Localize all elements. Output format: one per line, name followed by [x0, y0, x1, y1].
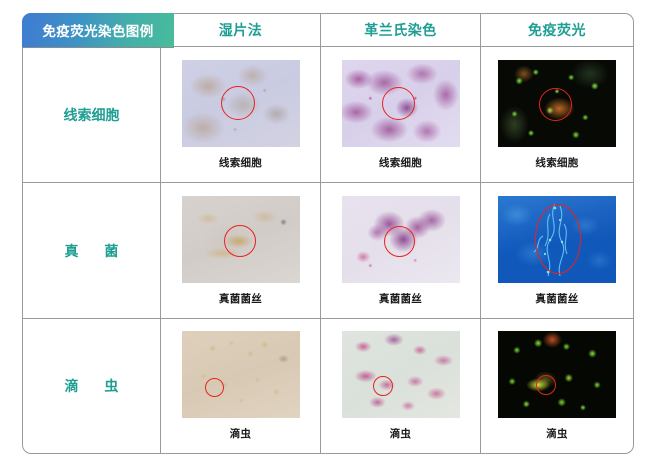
- legend-grid: 免疫荧光染色图例 湿片法 革兰氏染色 免疫荧光 线索细胞 线索细胞 线索细胞: [23, 14, 633, 453]
- micrograph-trichomonas-wet-mount: [182, 331, 300, 418]
- caption-tricho-wet: 滴虫: [230, 426, 252, 441]
- annotation-circle: [224, 225, 256, 257]
- micrograph-wrapper: [342, 196, 460, 283]
- annotation-ellipse: [535, 204, 581, 274]
- caption-tricho-if: 滴虫: [546, 426, 568, 441]
- micrograph-wrapper: [182, 331, 300, 418]
- column-header-gram-stain: 革兰氏染色: [321, 14, 481, 47]
- immunofluorescence-legend-table: 免疫荧光染色图例 湿片法 革兰氏染色 免疫荧光 线索细胞 线索细胞 线索细胞: [22, 13, 634, 454]
- corner-underline: [22, 47, 174, 48]
- micrograph-wrapper: [342, 60, 460, 147]
- row-label-trichomonas: 滴 虫: [23, 319, 161, 453]
- page-root: 免疫荧光染色图例 湿片法 革兰氏染色 免疫荧光 线索细胞 线索细胞 线索细胞: [0, 0, 657, 467]
- caption-fungus-if: 真菌菌丝: [535, 291, 578, 306]
- annotation-circle: [384, 226, 415, 257]
- micrograph-wrapper: [498, 331, 616, 418]
- annotation-circle: [539, 88, 572, 121]
- row-label-clue-cells: 线索细胞: [23, 47, 161, 183]
- micrograph-trichomonas-immunofluorescence: [498, 331, 616, 418]
- caption-clue-wet: 线索细胞: [219, 155, 262, 170]
- caption-fungus-gram: 真菌菌丝: [379, 291, 422, 306]
- specimen-cell-tricho-gram: 滴虫: [321, 319, 481, 453]
- annotation-circle: [382, 87, 415, 120]
- annotation-circle: [221, 86, 255, 120]
- column-header-wet-mount: 湿片法: [161, 14, 321, 47]
- micrograph-wrapper: [498, 196, 616, 283]
- micrograph-wrapper: [182, 196, 300, 283]
- specimen-cell-fungus-if: 真菌菌丝: [481, 183, 633, 319]
- annotation-circle: [373, 376, 393, 396]
- caption-fungus-wet: 真菌菌丝: [219, 291, 262, 306]
- row-label-fungus: 真 菌: [23, 183, 161, 319]
- legend-title-badge: 免疫荧光染色图例: [22, 13, 174, 47]
- specimen-cell-clue-if: 线索细胞: [481, 47, 633, 183]
- specimen-cell-fungus-gram: 真菌菌丝: [321, 183, 481, 319]
- specimen-cell-tricho-if: 滴虫: [481, 319, 633, 453]
- caption-tricho-gram: 滴虫: [390, 426, 412, 441]
- specimen-cell-clue-wet: 线索细胞: [161, 47, 321, 183]
- specimen-cell-tricho-wet: 滴虫: [161, 319, 321, 453]
- specimen-cell-fungus-wet: 真菌菌丝: [161, 183, 321, 319]
- specimen-cell-clue-gram: 线索细胞: [321, 47, 481, 183]
- annotation-circle: [205, 378, 224, 397]
- caption-clue-gram: 线索细胞: [379, 155, 422, 170]
- micrograph-wrapper: [498, 60, 616, 147]
- micrograph-wrapper: [342, 331, 460, 418]
- caption-clue-if: 线索细胞: [535, 155, 578, 170]
- table-corner-header-cell: 免疫荧光染色图例: [23, 14, 161, 47]
- micrograph-trichomonas-gram-stain: [342, 331, 460, 418]
- micrograph-wrapper: [182, 60, 300, 147]
- annotation-circle: [536, 375, 556, 395]
- column-header-immunofluorescence: 免疫荧光: [481, 14, 633, 47]
